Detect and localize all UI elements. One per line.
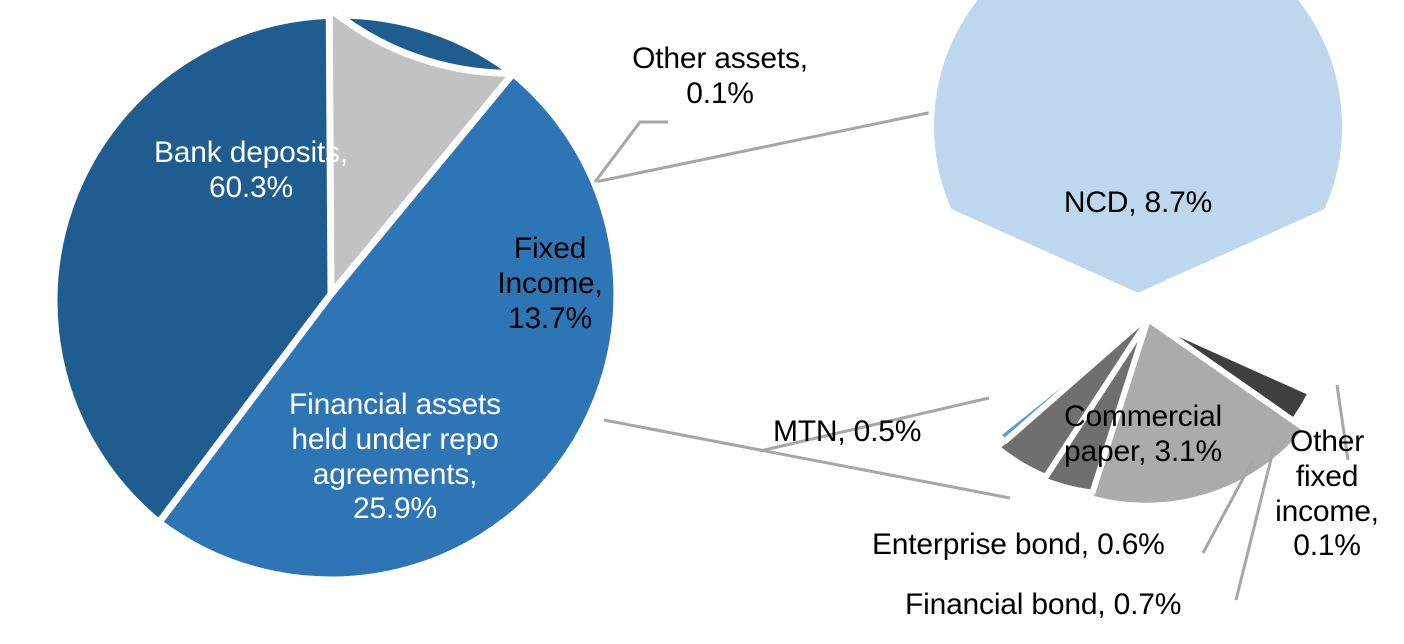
label-enterprise-bond: Enterprise bond, 0.6% [872,528,1217,563]
label-repo: Financial assets held under repo agreeme… [250,388,540,527]
label-fixed-income: Fixed Income, 13.7% [470,232,630,336]
label-other-fixed-income: Other fixed income, 0.1% [1256,425,1398,564]
label-mtn: MTN, 0.5% [773,415,973,450]
label-other-assets: Other assets, 0.1% [600,42,840,112]
label-ncd: NCD, 8.7% [1038,186,1238,221]
pie-of-pie-chart: Bank deposits, 60.3% Financial assets he… [0,0,1404,644]
label-bank-deposits: Bank deposits, 60.3% [106,136,396,206]
label-commercial-paper: Commercial paper, 3.1% [1028,400,1258,470]
detail-slice-ncd[interactable] [931,0,1345,296]
label-financial-bond: Financial bond, 0.7% [905,588,1245,623]
